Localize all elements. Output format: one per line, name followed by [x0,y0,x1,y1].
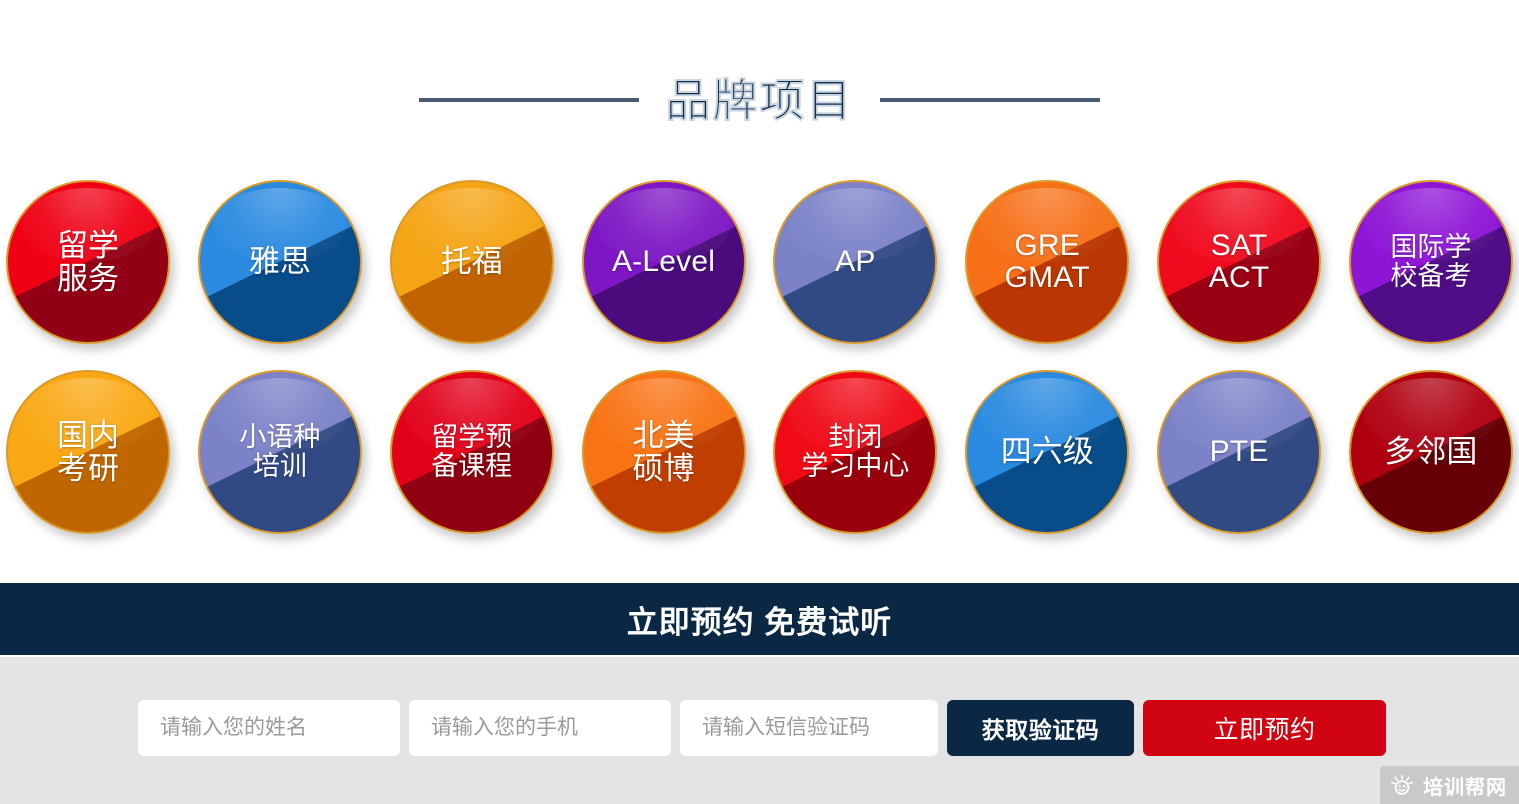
page-title: 品牌项目 [665,78,853,123]
program-bubble-liuxue-fuwu[interactable]: 留学 服务 [6,180,170,344]
program-bubble-guonei-kaoyan[interactable]: 国内 考研 [6,370,170,534]
program-label: GRE GMAT [999,230,1096,295]
program-bubble-duolingguo[interactable]: 多邻国 [1349,370,1513,534]
program-label: 小语种 培训 [233,423,326,481]
program-grid: 留学 服务 雅思 托福 A-Level AP GRE GMAT SAT ACT … [0,180,1519,534]
submit-booking-button[interactable]: 立即预约 [1143,700,1386,756]
program-label: 封闭 学习中心 [795,423,915,481]
program-bubble-pte[interactable]: PTE [1157,370,1321,534]
site-watermark: 培训帮网 [1380,766,1519,804]
program-bubble-gre-gmat[interactable]: GRE GMAT [965,180,1129,344]
cta-banner-text: 立即预约 免费试听 [627,597,893,642]
cta-banner: 立即预约 免费试听 [0,583,1519,655]
program-bubble-xiaoyuzhong-peixun[interactable]: 小语种 培训 [198,370,362,534]
get-code-button[interactable]: 获取验证码 [947,700,1134,756]
brand-programs-page: 品牌项目 留学 服务 雅思 托福 A-Level AP GRE GMAT [0,0,1519,804]
program-label: 北美 硕博 [627,419,701,486]
program-label: PTE [1204,436,1275,468]
program-label: 留学预 备课程 [425,423,518,481]
program-label: 多邻国 [1378,435,1483,468]
program-bubble-si-liu-ji[interactable]: 四六级 [965,370,1129,534]
program-bubble-beimei-shuobo[interactable]: 北美 硕博 [582,370,746,534]
program-bubble-fengbi-xuexi-zhongxin[interactable]: 封闭 学习中心 [773,370,937,534]
program-label: 雅思 [243,245,317,278]
name-input[interactable] [138,700,400,756]
program-label: SAT ACT [1203,230,1276,295]
watermark-label: 培训帮网 [1423,771,1507,800]
program-bubble-ap[interactable]: AP [773,180,937,344]
program-bubble-yasi-ielts[interactable]: 雅思 [198,180,362,344]
booking-form-strip: 获取验证码 立即预约 [0,657,1519,804]
title-rule-left [419,98,639,102]
program-label: 留学 服务 [51,229,125,296]
booking-form: 获取验证码 立即预约 [138,700,1386,756]
program-label: A-Level [606,246,721,278]
section-header: 品牌项目 [0,62,1519,138]
phone-input[interactable] [409,700,671,756]
program-bubble-a-level[interactable]: A-Level [582,180,746,344]
title-rule-right [880,98,1100,102]
program-label: 四六级 [995,435,1100,468]
program-bubble-tuofu-toefl[interactable]: 托福 [390,180,554,344]
program-label: 国内 考研 [51,419,125,486]
program-row-1: 留学 服务 雅思 托福 A-Level AP GRE GMAT SAT ACT … [0,180,1519,344]
program-label: 托福 [435,245,509,278]
program-bubble-liuxue-yubei-kecheng[interactable]: 留学预 备课程 [390,370,554,534]
sun-face-icon [1390,774,1414,796]
program-label: AP [829,246,881,278]
sms-code-input[interactable] [680,700,938,756]
program-label: 国际学 校备考 [1384,233,1477,291]
program-bubble-guoji-xuexiao-beikao[interactable]: 国际学 校备考 [1349,180,1513,344]
program-bubble-sat-act[interactable]: SAT ACT [1157,180,1321,344]
program-row-2: 国内 考研 小语种 培训 留学预 备课程 北美 硕博 封闭 学习中心 四六级 P… [0,370,1519,534]
